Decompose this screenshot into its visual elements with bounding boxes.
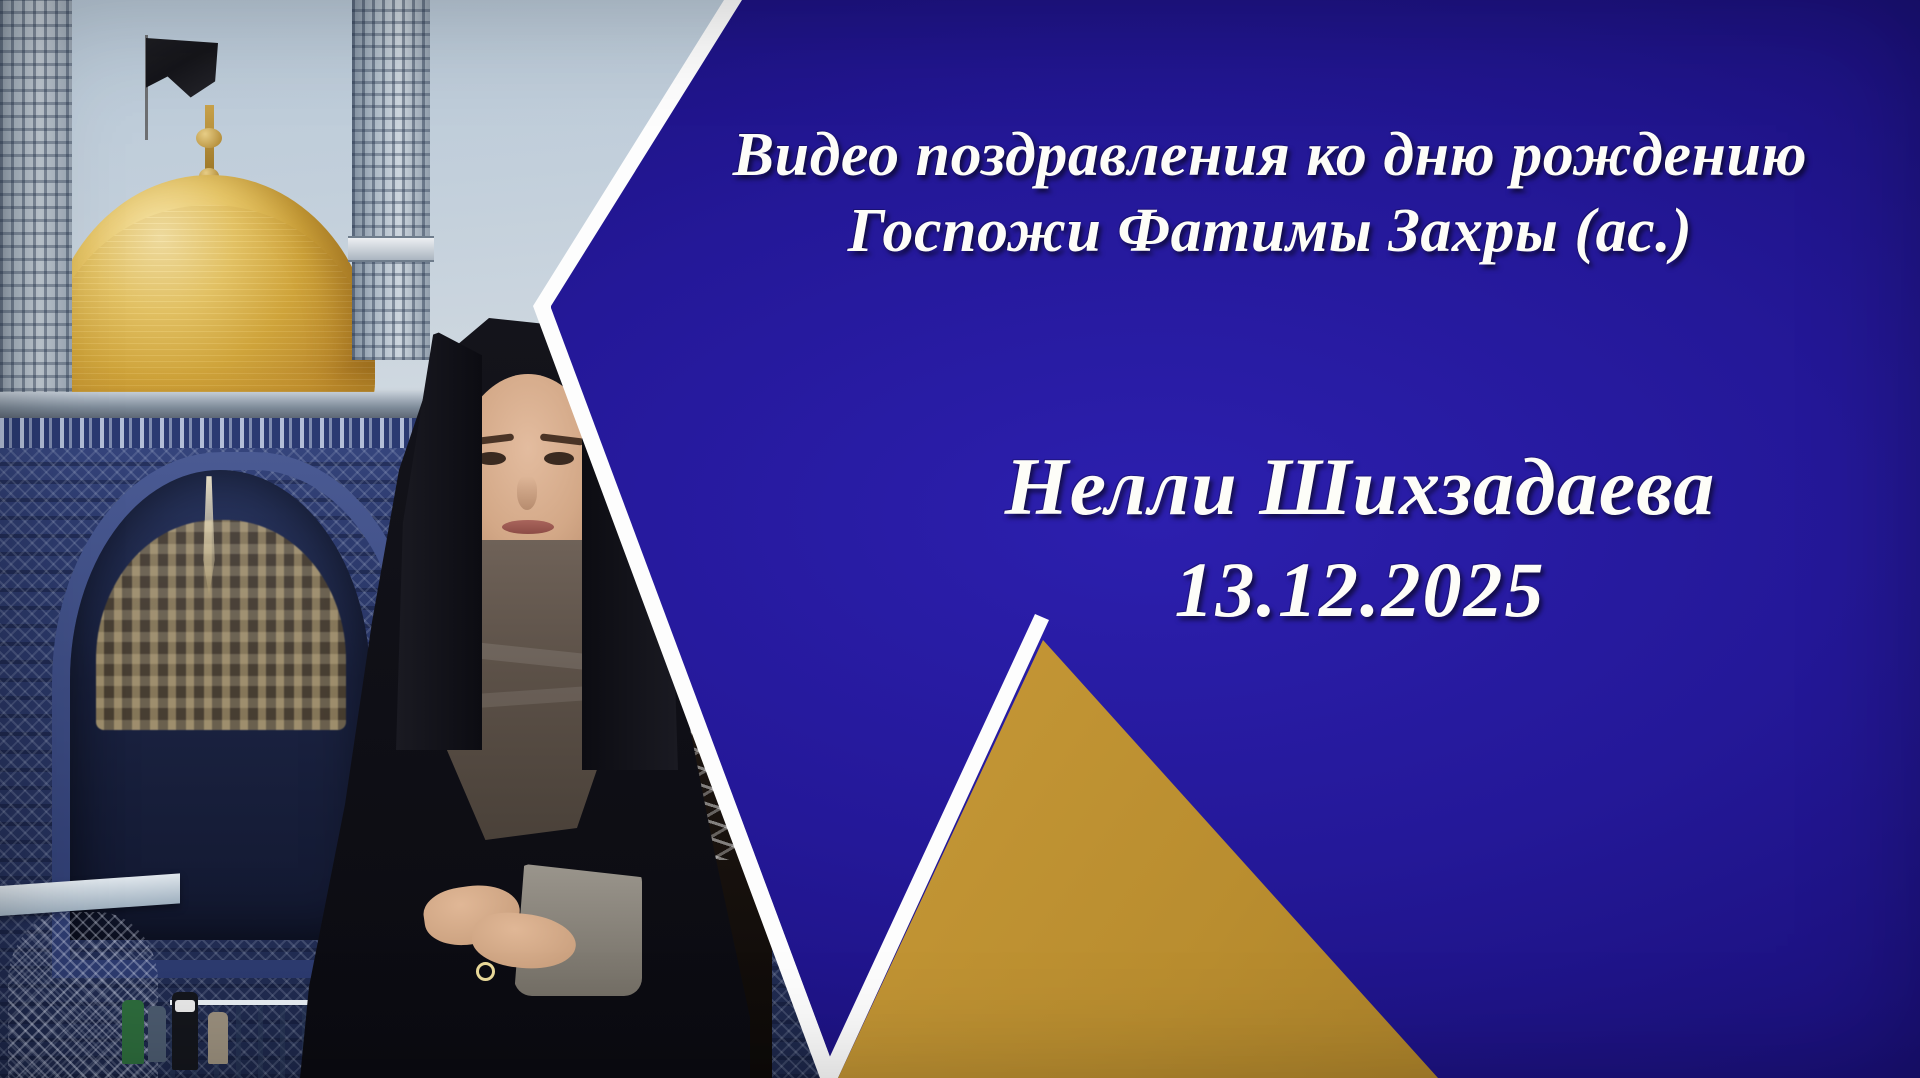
poster-title-line-2: Госпожи Фатимы Захры (ас.) [620, 198, 1920, 265]
eye-right [544, 452, 574, 465]
mouth [502, 520, 554, 534]
nose [517, 476, 537, 510]
ring-icon [476, 962, 495, 981]
dome-finial-ball [196, 128, 222, 148]
minaret-right-band [348, 236, 434, 262]
event-date: 13.12.2025 [800, 545, 1920, 635]
pilgrim-figure [122, 1000, 144, 1064]
pilgrim-figure [208, 1012, 228, 1064]
poster-canvas: Видео поздравления ко дню рождению Госпо… [0, 0, 1920, 1078]
chador-front-left [396, 330, 482, 750]
minaret-right [352, 0, 430, 360]
presenter-name: Нелли Шихзадаева [800, 440, 1920, 534]
clasped-hands [420, 878, 580, 974]
poster-title-line-1: Видео поздравления ко дню рождению [620, 122, 1920, 189]
pilgrim-figure [172, 992, 198, 1070]
pilgrim-figure [148, 1006, 166, 1062]
